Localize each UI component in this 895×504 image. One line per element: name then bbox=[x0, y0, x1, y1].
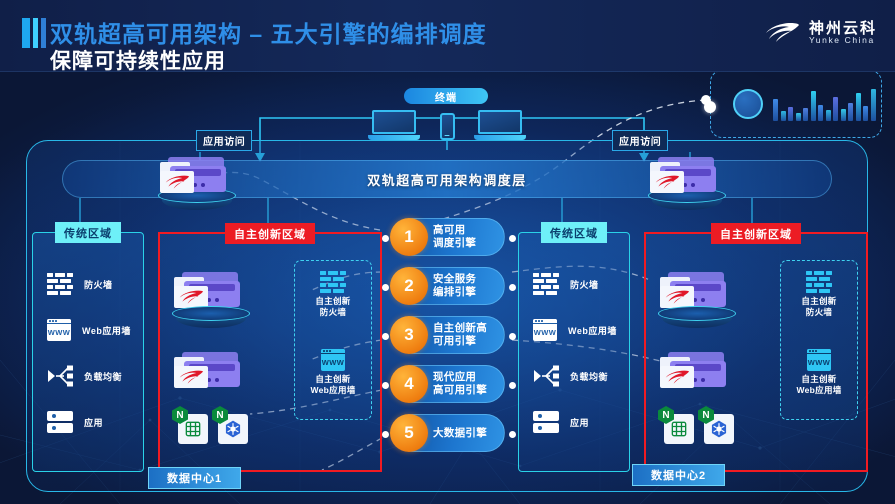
traditional-service-label: Web应用墙 bbox=[568, 324, 617, 337]
terminal-group: 终端 bbox=[372, 88, 522, 150]
firewall-brick-icon bbox=[533, 273, 559, 295]
app-access-label-right: 应用访问 bbox=[612, 130, 668, 151]
bar-chart-bar bbox=[811, 91, 816, 121]
container-glyph-icon bbox=[669, 419, 689, 439]
slide-header: 双轨超高可用架构 – 五大引擎的编排调度 保障可持续性应用 神州云科 Yunke… bbox=[0, 0, 895, 72]
engine-connector-port-right-icon bbox=[509, 431, 516, 438]
innovation-firewall-item: 自主创新 防火墙 bbox=[295, 271, 371, 317]
bar-chart-bar bbox=[796, 113, 801, 121]
traditional-service-list: 防火墙WWWWeb应用墙负载均衡应用 bbox=[519, 261, 629, 445]
traditional-zone-dc2: 传统区域 防火墙WWWWeb应用墙负载均衡应用 bbox=[518, 232, 630, 472]
engine-item-5[interactable]: 5大数据引擎 bbox=[393, 414, 505, 452]
slide-canvas: 双轨超高可用架构 – 五大引擎的编排调度 保障可持续性应用 神州云科 Yunke… bbox=[0, 0, 895, 504]
kubernetes-icon: N bbox=[218, 414, 248, 444]
traditional-service-label: 负载均衡 bbox=[84, 370, 122, 383]
web-application-firewall-icon: WWW bbox=[321, 349, 345, 371]
engine-connector-port-left-icon bbox=[382, 235, 389, 242]
bar-chart-bar bbox=[856, 93, 861, 121]
kubernetes-helm-glyph-icon bbox=[223, 419, 243, 439]
firewall-brick-icon bbox=[806, 271, 832, 293]
engine-item-4[interactable]: 4现代应用高可用引擎 bbox=[393, 365, 505, 403]
donut-chart-icon bbox=[733, 89, 763, 119]
innovation-zone-label: 自主创新区域 bbox=[225, 223, 315, 244]
traditional-zone-dc1: 传统区域 防火墙WWWWeb应用墙负载均衡应用 bbox=[32, 232, 144, 472]
swirl-logo-icon bbox=[163, 174, 191, 190]
nginx-container-icon: N bbox=[664, 414, 694, 444]
engine-number-badge: 5 bbox=[390, 414, 428, 452]
web-application-firewall-icon: WWW bbox=[47, 319, 71, 341]
engine-number-badge: 4 bbox=[390, 365, 428, 403]
innovation-zone-dc1: 自主创新区域 N bbox=[158, 232, 382, 472]
traditional-service-label: 防火墙 bbox=[570, 278, 599, 291]
innovation-firewall-caption: 自主创新 防火墙 bbox=[295, 296, 371, 317]
datacenter-label-1: 数据中心1 bbox=[148, 467, 241, 489]
app-access-label-left: 应用访问 bbox=[196, 130, 252, 151]
bar-chart-bar bbox=[826, 110, 831, 121]
laptop-icon bbox=[372, 110, 416, 140]
engine-item-3[interactable]: 3自主创新高可用引擎 bbox=[393, 316, 505, 354]
swirl-logo-icon bbox=[663, 369, 691, 385]
engine-connector-port-left-icon bbox=[382, 431, 389, 438]
platform-pedestal-icon bbox=[172, 306, 250, 330]
terminal-label: 终端 bbox=[404, 88, 488, 104]
laptop-icon bbox=[478, 110, 522, 140]
load-balancer-icon bbox=[47, 364, 73, 388]
engine-connector-port-left-icon bbox=[382, 284, 389, 291]
traditional-service-list: 防火墙WWWWeb应用墙负载均衡应用 bbox=[33, 261, 143, 445]
load-balancer-icon bbox=[533, 364, 559, 388]
bar-chart-bar bbox=[781, 111, 786, 121]
engine-item-1[interactable]: 1高可用调度引擎 bbox=[393, 218, 505, 256]
application-server-icon bbox=[47, 411, 73, 433]
innovation-firewall-item: 自主创新 防火墙 bbox=[781, 271, 857, 317]
traditional-zone-label: 传统区域 bbox=[541, 222, 607, 243]
web-application-firewall-icon: WWW bbox=[533, 319, 557, 341]
engine-label: 自主创新高可用引擎 bbox=[433, 322, 487, 347]
engine-item-2[interactable]: 2安全服务编排引擎 bbox=[393, 267, 505, 305]
traditional-service-label: 应用 bbox=[84, 416, 103, 429]
engine-list: 1高可用调度引擎2安全服务编排引擎3自主创新高可用引擎4现代应用高可用引擎5大数… bbox=[393, 218, 505, 463]
traditional-service-label: Web应用墙 bbox=[82, 324, 131, 337]
traditional-service-row: 负载均衡 bbox=[519, 353, 629, 399]
firewall-brick-icon bbox=[320, 271, 346, 293]
big-data-connector-port-icon bbox=[704, 101, 716, 113]
bar-chart-bar bbox=[848, 103, 853, 121]
swirl-logo-icon bbox=[177, 369, 205, 385]
scheduling-layer-label: 双轨超高可用架构调度层 bbox=[367, 170, 527, 189]
innovation-services-box-dc2: 自主创新 防火墙 WWW 自主创新 Web应用墙 bbox=[780, 260, 858, 420]
innovation-waf-item: WWW 自主创新 Web应用墙 bbox=[295, 349, 371, 395]
bar-chart-bar bbox=[803, 108, 808, 121]
engine-connector-port-left-icon bbox=[382, 333, 389, 340]
traditional-service-row: 应用 bbox=[33, 399, 143, 445]
engine-connector-port-right-icon bbox=[509, 235, 516, 242]
engine-label: 大数据引擎 bbox=[433, 427, 487, 440]
swirl-logo-icon bbox=[177, 289, 205, 305]
innovation-waf-caption: 自主创新 Web应用墙 bbox=[781, 374, 857, 395]
header-accent-bars-icon bbox=[22, 18, 46, 48]
page-subtitle: 保障可持续性应用 bbox=[50, 45, 226, 75]
innovation-services-box-dc1: 自主创新 防火墙 WWW 自主创新 Web应用墙 bbox=[294, 260, 372, 420]
traditional-service-row: 防火墙 bbox=[33, 261, 143, 307]
traditional-service-row: 负载均衡 bbox=[33, 353, 143, 399]
kubernetes-helm-glyph-icon bbox=[709, 419, 729, 439]
traditional-service-label: 应用 bbox=[570, 416, 589, 429]
engine-label: 安全服务编排引擎 bbox=[433, 273, 476, 298]
platform-pedestal-icon bbox=[658, 306, 736, 330]
engine-connector-port-left-icon bbox=[382, 382, 389, 389]
innovation-firewall-caption: 自主创新 防火墙 bbox=[781, 296, 857, 317]
innovation-waf-caption: 自主创新 Web应用墙 bbox=[295, 374, 371, 395]
smartphone-icon bbox=[440, 113, 455, 140]
engine-label: 现代应用高可用引擎 bbox=[433, 371, 487, 396]
engine-number-badge: 1 bbox=[390, 218, 428, 256]
bar-chart-bar bbox=[773, 99, 778, 121]
brand-name-cn: 神州云科 bbox=[809, 21, 877, 37]
web-application-firewall-icon: WWW bbox=[807, 349, 831, 371]
traditional-service-row: WWWWeb应用墙 bbox=[519, 307, 629, 353]
swirl-logo-icon bbox=[663, 289, 691, 305]
big-data-card bbox=[710, 70, 882, 138]
bar-chart-bar bbox=[863, 106, 868, 121]
traditional-service-row: WWWWeb应用墙 bbox=[33, 307, 143, 353]
application-server-icon bbox=[533, 411, 559, 433]
bar-chart-bar bbox=[871, 89, 876, 121]
traditional-zone-label: 传统区域 bbox=[55, 222, 121, 243]
bar-chart-bar bbox=[833, 97, 838, 121]
kubernetes-icon: N bbox=[704, 414, 734, 444]
engine-connector-port-right-icon bbox=[509, 333, 516, 340]
terminal-device-icons bbox=[372, 110, 522, 140]
traditional-service-row: 防火墙 bbox=[519, 261, 629, 307]
firewall-brick-icon bbox=[47, 273, 73, 295]
innovation-waf-item: WWW 自主创新 Web应用墙 bbox=[781, 349, 857, 395]
nginx-container-icon: N bbox=[178, 414, 208, 444]
engine-number-badge: 3 bbox=[390, 316, 428, 354]
page-title: 双轨超高可用架构 – 五大引擎的编排调度 bbox=[50, 15, 487, 49]
traditional-service-label: 防火墙 bbox=[84, 278, 113, 291]
bar-chart-bar bbox=[788, 107, 793, 121]
engine-connector-port-right-icon bbox=[509, 382, 516, 389]
brand-logo: 神州云科 Yunke China bbox=[762, 19, 877, 47]
innovation-zone-dc2: 自主创新区域 N bbox=[644, 232, 868, 472]
engine-connector-port-right-icon bbox=[509, 284, 516, 291]
bar-chart-bar bbox=[841, 109, 846, 121]
engine-label: 高可用调度引擎 bbox=[433, 224, 476, 249]
swirl-logo-icon bbox=[762, 19, 802, 47]
brand-name-en: Yunke China bbox=[809, 36, 877, 45]
swirl-logo-icon bbox=[653, 174, 681, 190]
datacenter-label-2: 数据中心2 bbox=[632, 464, 725, 486]
traditional-service-label: 负载均衡 bbox=[570, 370, 608, 383]
bar-chart-bar bbox=[818, 105, 823, 121]
bar-chart-icon bbox=[773, 87, 876, 121]
engine-number-badge: 2 bbox=[390, 267, 428, 305]
traditional-service-row: 应用 bbox=[519, 399, 629, 445]
innovation-zone-label: 自主创新区域 bbox=[711, 223, 801, 244]
container-glyph-icon bbox=[183, 419, 203, 439]
